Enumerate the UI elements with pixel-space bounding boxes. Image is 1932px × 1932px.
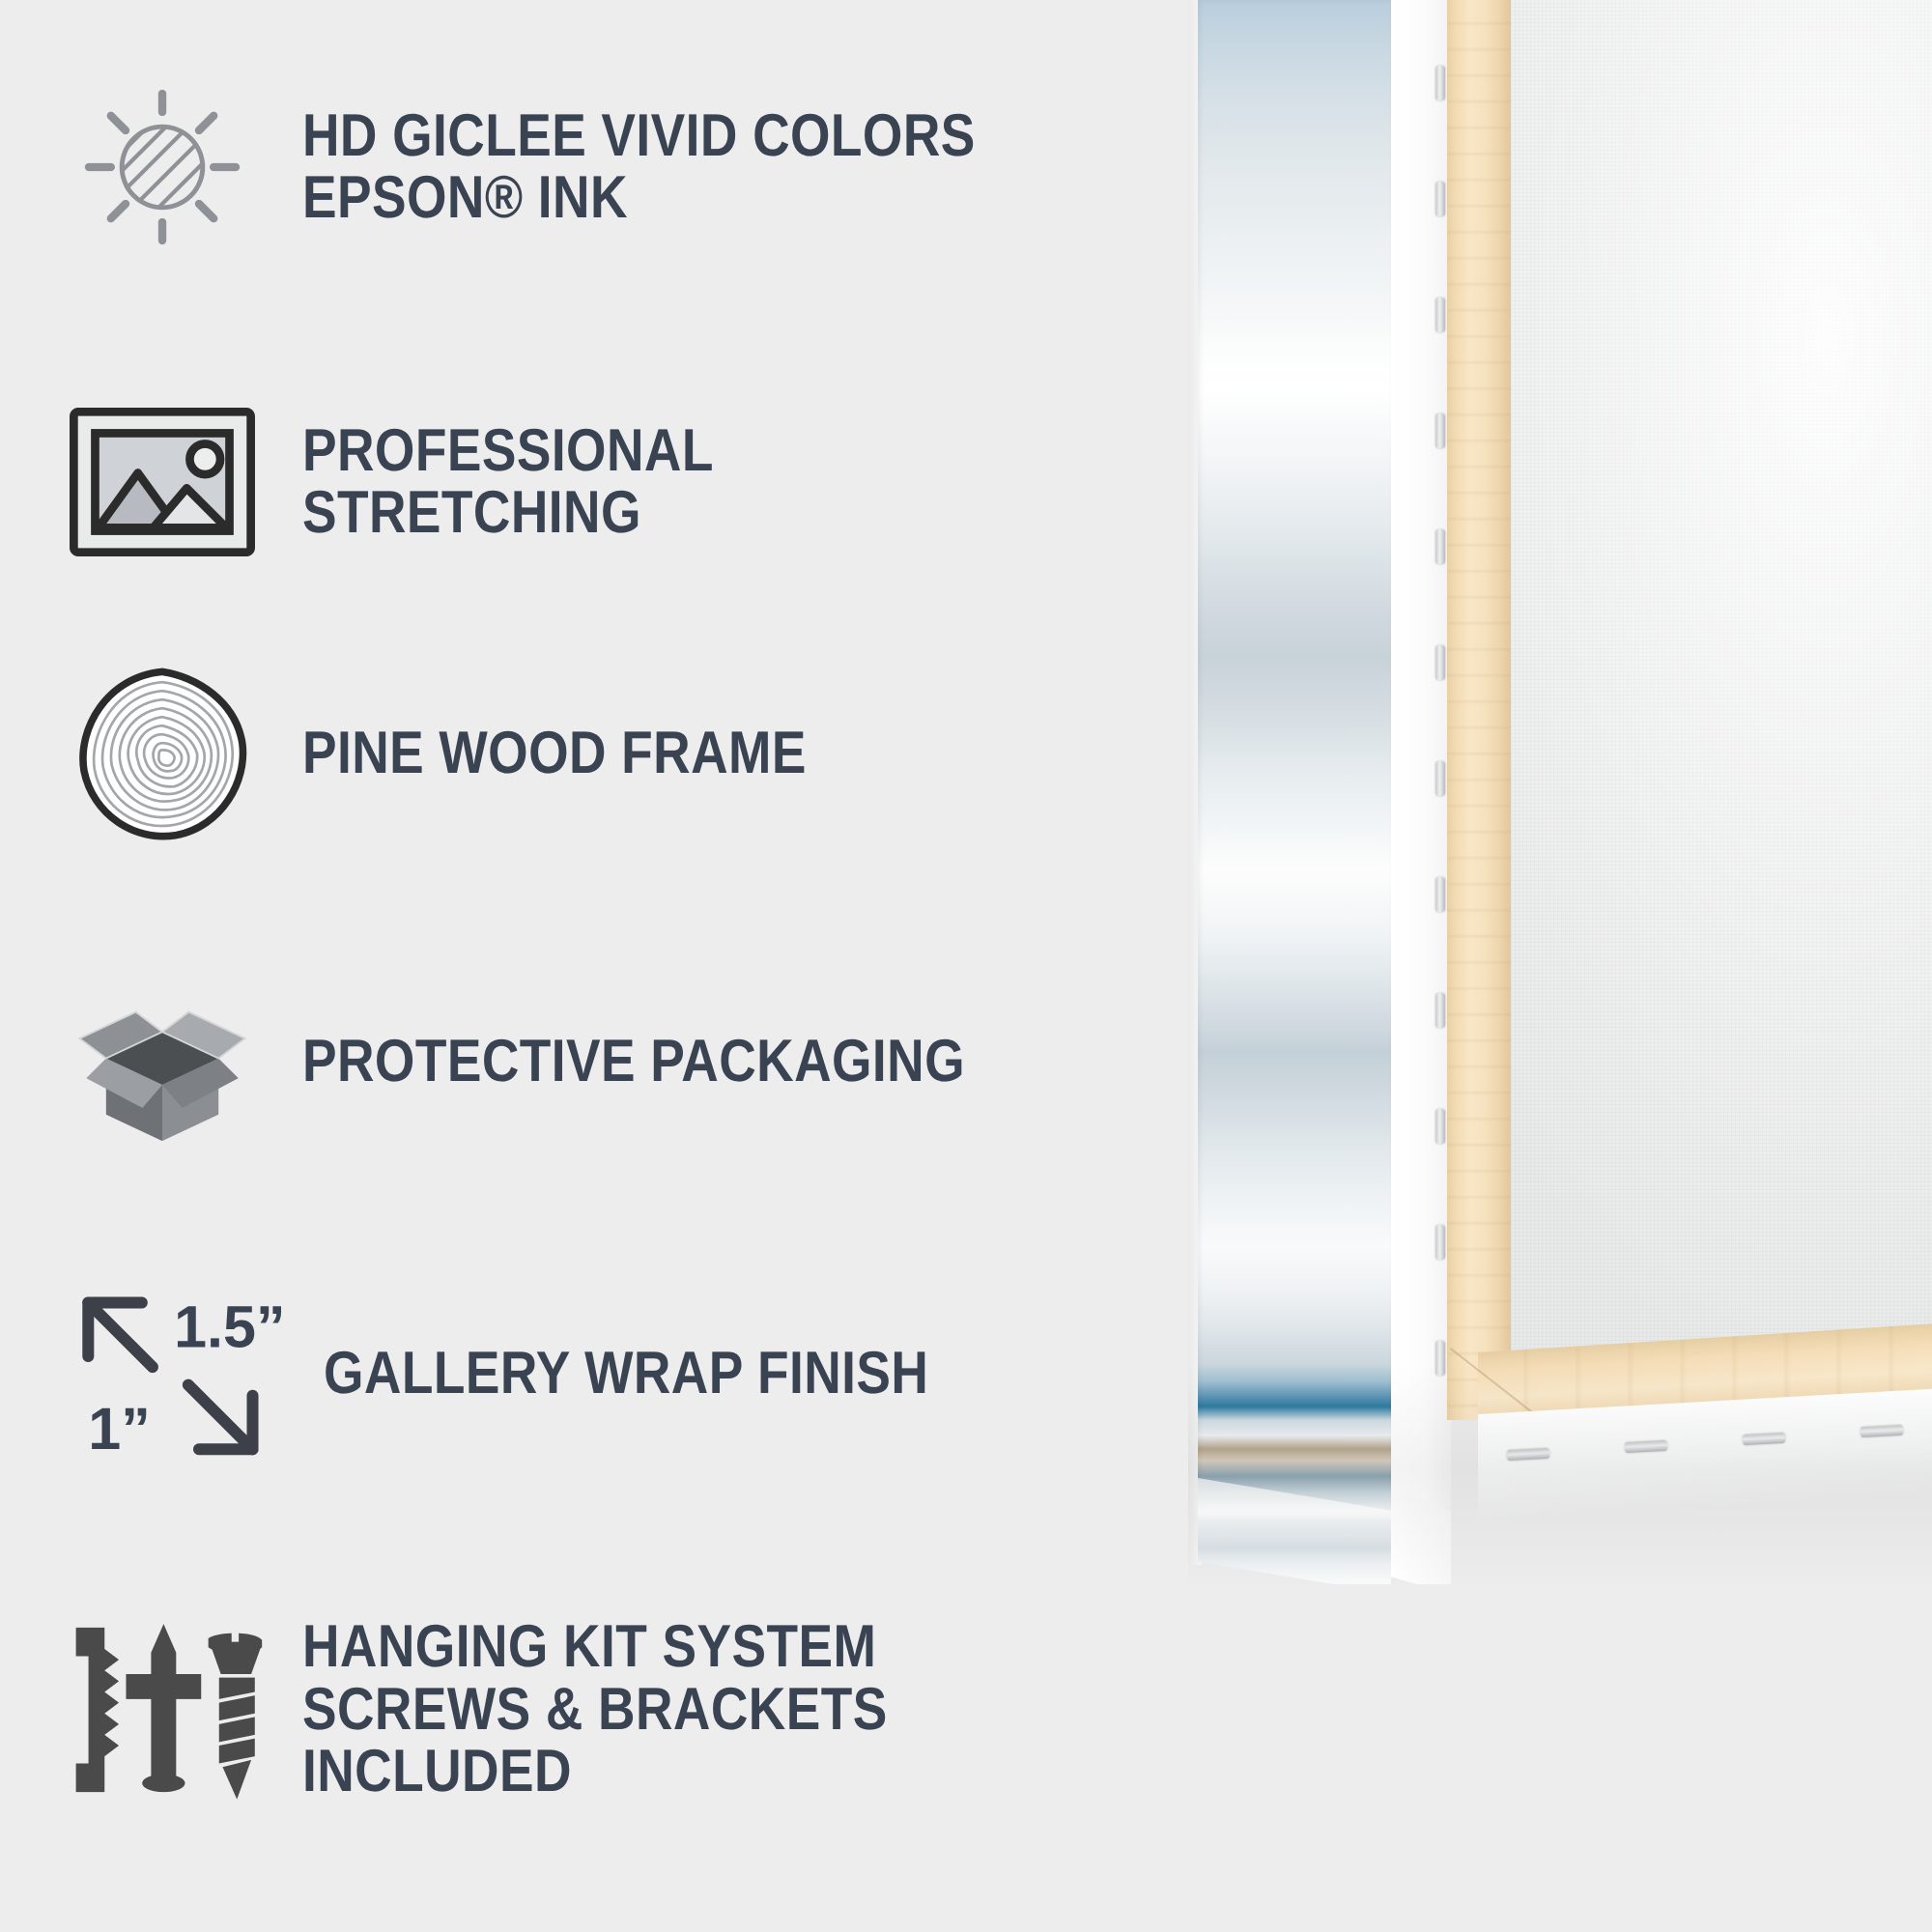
canvas-back-fabric — [1511, 0, 1932, 1360]
pine-stretcher-bar-vertical — [1447, 0, 1511, 1420]
feature-row-pine-wood-frame: PINE WOOD FRAME — [58, 667, 889, 840]
nail-shape — [126, 1624, 201, 1777]
staple — [1861, 1425, 1904, 1437]
feature-label-professional-stretching: PROFESSIONAL STRETCHING — [302, 420, 1065, 545]
staple — [1435, 413, 1445, 448]
tree-rings-icon — [58, 667, 266, 840]
feature-label-gallery-wrap-finish: GALLERY WRAP FINISH — [324, 1343, 928, 1405]
staple — [1435, 1225, 1445, 1260]
staple — [1435, 66, 1445, 100]
staple — [1435, 298, 1445, 332]
printed-wrapped-edge — [1198, 0, 1391, 1557]
feature-list: HD GICLEE VIVID COLORS EPSON® INK PROFES… — [0, 0, 1188, 1932]
canvas-back-photograph — [1188, 0, 1932, 1584]
feature-label-hanging-kit-system: HANGING KIT SYSTEM SCREWS & BRACKETS INC… — [302, 1616, 1065, 1803]
staple — [1435, 993, 1445, 1028]
staple — [1743, 1433, 1786, 1445]
bracket-shape — [76, 1628, 119, 1792]
feature-row-protective-packaging: PROTECTIVE PACKAGING — [58, 976, 1073, 1148]
nail-head-shape — [142, 1775, 185, 1793]
screw-slot-shape — [232, 1630, 239, 1642]
staple — [1435, 529, 1445, 564]
feature-label-pine-wood-frame: PINE WOOD FRAME — [302, 723, 807, 784]
staple — [1507, 1448, 1550, 1461]
staple — [1435, 1341, 1445, 1376]
measurement-depth-thin: 1” — [88, 1396, 150, 1462]
feature-row-gallery-wrap-finish: 1.5” 1” GALLERY WRAP FINISH — [58, 1285, 1027, 1463]
picture-frame-icon — [58, 406, 266, 558]
staple — [1435, 877, 1445, 912]
measurement-depth-thick: 1.5” — [174, 1294, 285, 1360]
open-box-icon — [58, 976, 266, 1148]
staple — [1435, 1109, 1445, 1144]
product-feature-infographic: HD GICLEE VIVID COLORS EPSON® INK PROFES… — [0, 0, 1932, 1932]
feature-label-hd-giclee: HD GICLEE VIVID COLORS EPSON® INK — [302, 105, 976, 230]
diagonal-arrows-measurement-icon: 1.5” 1” — [58, 1285, 304, 1463]
feature-label-protective-packaging: PROTECTIVE PACKAGING — [302, 1031, 965, 1093]
screw-tip-shape — [222, 1760, 251, 1800]
staple — [1435, 761, 1445, 796]
staple — [1435, 182, 1445, 216]
sun-brightness-icon — [58, 75, 266, 259]
feature-row-professional-stretching: PROFESSIONAL STRETCHING — [58, 406, 1188, 558]
feature-row-hd-giclee: HD GICLEE VIVID COLORS EPSON® INK — [58, 75, 1085, 259]
feature-row-hanging-kit-system: HANGING KIT SYSTEM SCREWS & BRACKETS INC… — [58, 1604, 1188, 1816]
staple — [1625, 1440, 1668, 1453]
screw-neck-shape — [212, 1649, 260, 1674]
staple — [1435, 645, 1445, 680]
screw-thread-shape — [219, 1678, 255, 1764]
bracket-nail-screw-icon — [58, 1604, 266, 1816]
